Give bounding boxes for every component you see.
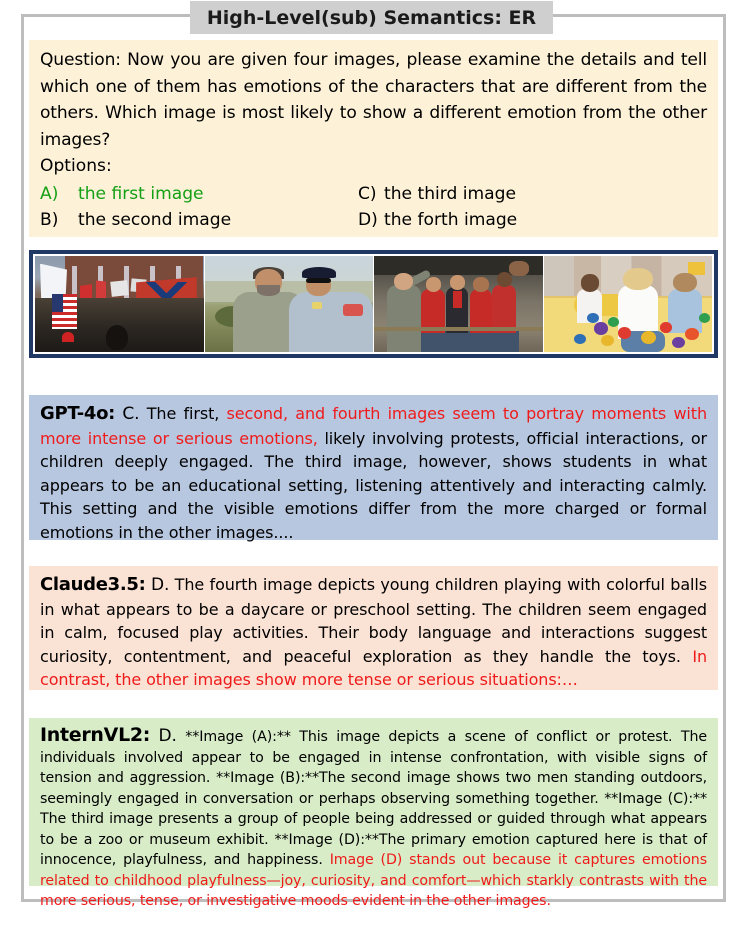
option-c-key: C) [358, 181, 384, 208]
option-d[interactable]: D) the forth image [358, 207, 517, 234]
internvl2-answer-letter: D. [159, 726, 177, 746]
claude35-answer-letter: D. [151, 575, 169, 595]
internvl2-model-label: InternVL2: [40, 724, 150, 746]
question-prompt: Question: Now you are given four images,… [40, 47, 707, 153]
option-c[interactable]: C) the third image [358, 181, 516, 208]
option-d-text: the forth image [384, 207, 517, 234]
image-2-two-men-outdoors-police [205, 256, 374, 352]
option-b-text: the second image [78, 207, 231, 234]
option-c-text: the third image [384, 181, 516, 208]
figure-title: High-Level(sub) Semantics: ER [207, 7, 536, 29]
gpt4o-answer-panel: GPT-4o: C. The first, second, and fourth… [29, 395, 718, 540]
options-row-2: B) the second image D) the forth image [40, 207, 707, 234]
figure-title-chip: High-Level(sub) Semantics: ER [190, 1, 553, 34]
option-b-key: B) [40, 207, 78, 234]
gpt4o-segment-0: The first, [147, 404, 227, 423]
claude35-model-label: Claude3.5: [40, 574, 146, 595]
option-a[interactable]: A) the first image [40, 181, 358, 208]
image-strip [29, 250, 718, 358]
gpt4o-answer-text: GPT-4o: C. The first, second, and fourth… [40, 402, 707, 544]
internvl2-answer-text: InternVL2: D. **Image (A):** This image … [40, 725, 707, 912]
gpt4o-answer-letter: C. [122, 404, 139, 424]
image-3-guide-group-exhibit [374, 256, 543, 352]
claude35-answer-panel: Claude3.5: D. The fourth image depicts y… [29, 566, 718, 690]
question-panel: Question: Now you are given four images,… [29, 40, 718, 237]
claude35-answer-text: Claude3.5: D. The fourth image depicts y… [40, 573, 707, 692]
option-a-text: the first image [78, 181, 204, 208]
image-1-protest-crowd-flags [35, 256, 204, 352]
internvl2-answer-panel: InternVL2: D. **Image (A):** This image … [29, 718, 718, 886]
option-b[interactable]: B) the second image [40, 207, 358, 234]
option-a-key: A) [40, 181, 78, 208]
options-label: Options: [40, 153, 707, 180]
options-list: A) the first image C) the third image B)… [40, 181, 707, 234]
options-row-1: A) the first image C) the third image [40, 181, 707, 208]
image-4-children-playing-balls [544, 256, 713, 352]
gpt4o-model-label: GPT-4o: [40, 403, 115, 424]
internvl2-segment-0: **Image (A):** This image depicts a scen… [40, 729, 707, 868]
option-d-key: D) [358, 207, 384, 234]
